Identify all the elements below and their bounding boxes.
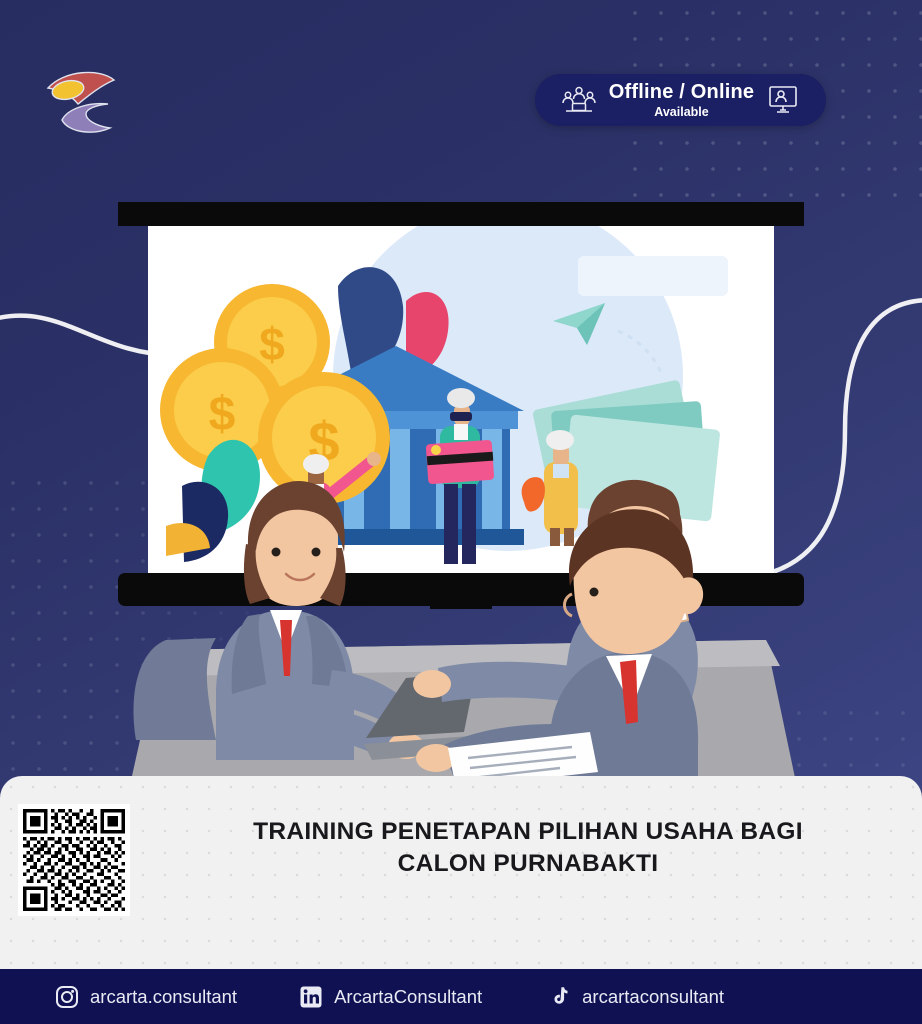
- promo-poster: Offline / Online Available: [0, 0, 922, 1024]
- instagram-icon: [55, 985, 79, 1009]
- linkedin-icon: [299, 985, 323, 1009]
- tiktok-handle: arcartaconsultant: [582, 986, 724, 1008]
- title-line-2: CALON PURNABAKTI: [148, 848, 908, 880]
- svg-text:$: $: [259, 318, 285, 370]
- monitor-top-bezel: [118, 202, 804, 226]
- badge-text-group: Offline / Online Available: [609, 82, 754, 119]
- availability-badge[interactable]: Offline / Online Available: [535, 74, 826, 126]
- linkedin-handle: ArcartaConsultant: [334, 986, 482, 1008]
- svg-text:$: $: [209, 388, 236, 441]
- qr-code[interactable]: [18, 804, 130, 916]
- arcarta-swoosh-logo: [38, 58, 130, 140]
- tiktok-icon: [547, 985, 571, 1009]
- title-card: TRAINING PENETAPAN PILIHAN USAHA BAGI CA…: [0, 776, 922, 969]
- badge-main-label: Offline / Online: [609, 82, 754, 102]
- businesswoman-with-laptop: [216, 481, 476, 760]
- online-monitor-person-icon: [767, 85, 799, 115]
- group-meeting-icon: [562, 85, 596, 115]
- page-title: TRAINING PENETAPAN PILIHAN USAHA BAGI CA…: [148, 816, 908, 881]
- social-instagram[interactable]: arcarta.consultant: [55, 985, 237, 1009]
- social-tiktok[interactable]: arcartaconsultant: [547, 985, 724, 1009]
- instagram-handle: arcarta.consultant: [90, 986, 237, 1008]
- social-linkedin[interactable]: ArcartaConsultant: [299, 985, 482, 1009]
- badge-sub-label: Available: [654, 106, 708, 119]
- social-footer: arcarta.consultant ArcartaConsultant arc…: [0, 969, 922, 1024]
- title-line-1: TRAINING PENETAPAN PILIHAN USAHA BAGI: [148, 816, 908, 848]
